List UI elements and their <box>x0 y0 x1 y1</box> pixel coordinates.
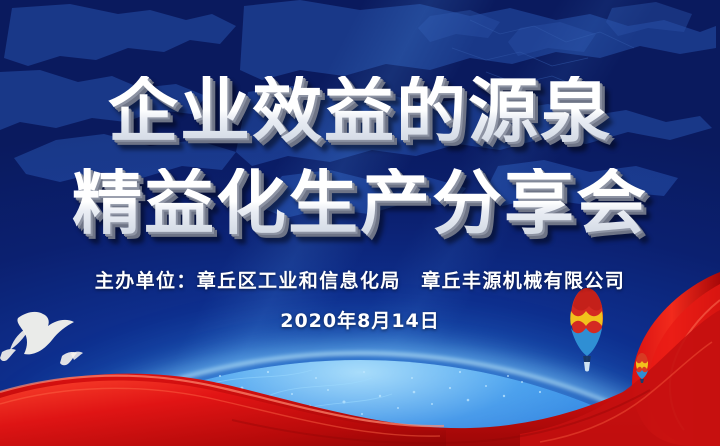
banner-title-line-1: 企业效益的源泉 <box>108 76 612 146</box>
banner-organizers: 主办单位：章丘区工业和信息化局 章丘丰源机械有限公司 <box>95 266 625 293</box>
conference-banner: 企业效益的源泉 精益化生产分享会 主办单位：章丘区工业和信息化局 章丘丰源机械有… <box>0 0 720 446</box>
banner-event-date: 2020年8月14日 <box>280 306 440 333</box>
banner-content: 企业效益的源泉 精益化生产分享会 主办单位：章丘区工业和信息化局 章丘丰源机械有… <box>0 0 720 446</box>
banner-title-line-2: 精益化生产分享会 <box>72 168 648 238</box>
